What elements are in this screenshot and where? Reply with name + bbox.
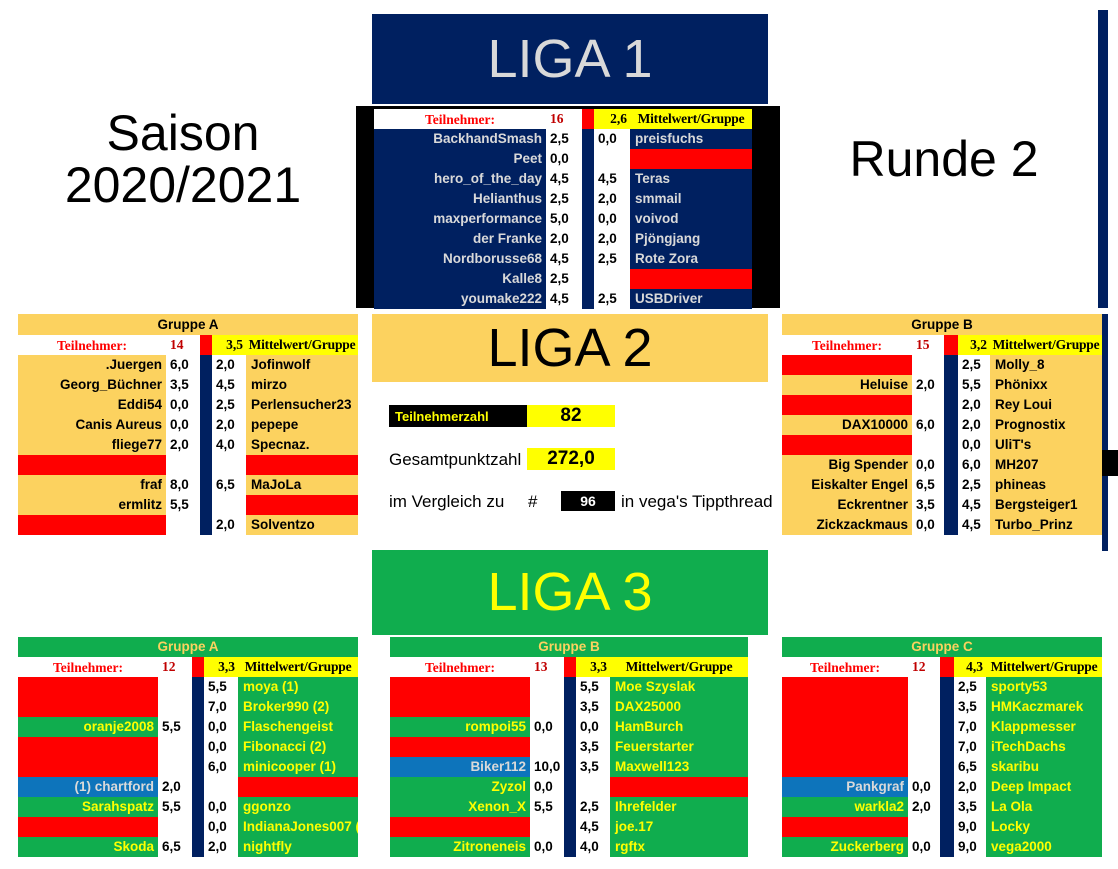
score-left: 2,5 <box>546 189 582 209</box>
header-red-spacer <box>200 335 212 355</box>
score-right: 6,5 <box>212 475 246 495</box>
player-name-left: oranje2008 <box>18 717 158 737</box>
score-left: 2,5 <box>546 129 582 149</box>
column-divider <box>944 355 958 375</box>
score-left: 6,5 <box>912 475 944 495</box>
score-right: 9,0 <box>954 837 986 857</box>
player-name-right: UliT's <box>990 435 1102 455</box>
score-right: 6,0 <box>204 757 238 777</box>
column-divider <box>944 455 958 475</box>
column-divider <box>200 395 212 415</box>
score-right: 3,5 <box>954 797 986 817</box>
header-red-spacer <box>192 657 204 677</box>
mittelwert-label: Mittelwert/Gruppe <box>990 335 1102 355</box>
score-right: 5,5 <box>576 677 610 697</box>
score-right: 7,0 <box>954 737 986 757</box>
player-name-right: nightfly <box>238 837 358 857</box>
player-name-left: fliege77 <box>18 435 166 455</box>
player-name-right: Turbo_Prinz <box>990 515 1102 535</box>
column-divider <box>200 495 212 515</box>
column-divider <box>940 797 954 817</box>
score-left: 0,0 <box>912 455 944 475</box>
mittelwert-value: 3,3 <box>204 657 238 677</box>
score-right: 0,0 <box>594 129 630 149</box>
column-divider <box>582 189 594 209</box>
table-row: Kalle82,5 <box>374 269 752 289</box>
empty-slot-left <box>782 817 908 837</box>
player-name-right: Phönixx <box>990 375 1102 395</box>
table-row: rompoi550,00,0HamBurch <box>390 717 748 737</box>
group-title-row: Gruppe A <box>18 314 358 335</box>
group-title-row: Gruppe C <box>782 637 1102 657</box>
table-row <box>18 455 358 475</box>
score-right: 2,0 <box>958 415 990 435</box>
player-name-left: maxperformance <box>374 209 546 229</box>
score-left <box>158 677 192 697</box>
player-name-left: Heluise <box>782 375 912 395</box>
table-row: Big Spender0,06,0MH207 <box>782 455 1102 475</box>
score-left <box>908 737 940 757</box>
score-right: 0,0 <box>204 737 238 757</box>
column-divider <box>940 777 954 797</box>
empty-slot-right <box>238 777 358 797</box>
table-row: 2,0Solventzo <box>18 515 358 535</box>
score-left: 0,0 <box>908 837 940 857</box>
score-right: 2,0 <box>204 837 238 857</box>
teilnehmerzahl-chip: Teilnehmerzahl <box>389 405 527 427</box>
liga1-table: Teilnehmer:162,6Mittelwert/GruppeBackhan… <box>374 109 752 307</box>
gesamtpunktzahl-value: 272,0 <box>527 448 615 470</box>
empty-slot-left <box>782 435 912 455</box>
liga3-gruppeB-table: Gruppe BTeilnehmer:133,3Mittelwert/Grupp… <box>390 637 748 859</box>
score-left: 6,0 <box>912 415 944 435</box>
table-row: Zitroneneis0,04,0rgftx <box>390 837 748 857</box>
table-row: 9,0Locky <box>782 817 1102 837</box>
mittelwert-value: 4,3 <box>954 657 986 677</box>
score-left: 5,0 <box>546 209 582 229</box>
column-divider <box>944 495 958 515</box>
player-name-right: moya (1) <box>238 677 358 697</box>
player-name-right: Specnaz. <box>246 435 358 455</box>
empty-slot-left <box>18 817 158 837</box>
score-left: 3,5 <box>912 495 944 515</box>
player-name-left: Xenon_X <box>390 797 530 817</box>
player-name-left: Georg_Büchner <box>18 375 166 395</box>
player-name-right: USBDriver <box>630 289 752 309</box>
score-left: 10,0 <box>530 757 564 777</box>
score-left <box>158 737 192 757</box>
empty-slot-left <box>18 677 158 697</box>
score-left: 4,5 <box>546 169 582 189</box>
liga1-title: LIGA 1 <box>372 14 768 104</box>
score-left <box>530 737 564 757</box>
mittelwert-label: Mittelwert/Gruppe <box>986 657 1102 677</box>
player-name-right: HamBurch <box>610 717 748 737</box>
group-title-row: Gruppe B <box>390 637 748 657</box>
table-row: Zickzackmaus0,04,5Turbo_Prinz <box>782 515 1102 535</box>
table-row: .Juergen6,02,0Jofinwolf <box>18 355 358 375</box>
score-left <box>166 515 200 535</box>
column-divider <box>940 737 954 757</box>
gesamtpunktzahl-label: Gesamtpunktzahl <box>389 450 521 470</box>
column-divider <box>200 455 212 475</box>
player-name-right: voivod <box>630 209 752 229</box>
player-name-left: Peet <box>374 149 546 169</box>
table-row: Sarahspatz5,50,0ggonzo <box>18 797 358 817</box>
score-left <box>158 697 192 717</box>
column-divider <box>564 797 576 817</box>
vergleich-suffix: in vega's Tippthread <box>621 492 773 512</box>
table-row: 2,5Molly_8 <box>782 355 1102 375</box>
column-divider <box>582 169 594 189</box>
mittelwert-label: Mittelwert/Gruppe <box>238 657 358 677</box>
score-left: 0,0 <box>908 777 940 797</box>
player-name-right: Solventzo <box>246 515 358 535</box>
season-label: Saison <box>107 107 260 160</box>
score-left: 0,0 <box>546 149 582 169</box>
group-table: Gruppe BTeilnehmer:153,2Mittelwert/Grupp… <box>782 314 1102 535</box>
player-name-left-highlight: (1) chartford <box>18 777 158 797</box>
player-name-right: Perlensucher23 <box>246 395 358 415</box>
player-name-right: smmail <box>630 189 752 209</box>
table-row: oranje20085,50,0Flaschengeist <box>18 717 358 737</box>
column-divider <box>192 817 204 837</box>
group-table: Gruppe CTeilnehmer:124,3Mittelwert/Grupp… <box>782 637 1102 857</box>
group-table: Gruppe ATeilnehmer:143,5Mittelwert/Grupp… <box>18 314 358 535</box>
group-header-row: Teilnehmer:133,3Mittelwert/Gruppe <box>390 657 748 677</box>
liga1-right-spacer <box>768 14 780 106</box>
score-left: 0,0 <box>912 515 944 535</box>
right-edge-black <box>1102 450 1118 476</box>
score-left: 3,5 <box>166 375 200 395</box>
teilnehmer-label: Teilnehmer: <box>374 109 546 129</box>
mittelwert-value: 3,2 <box>958 335 990 355</box>
player-name-right: Maxwell123 <box>610 757 748 777</box>
score-left: 0,0 <box>166 415 200 435</box>
group-title-row: Gruppe B <box>782 314 1102 335</box>
table-row: Eddi540,02,5Perlensucher23 <box>18 395 358 415</box>
group-title: Gruppe A <box>18 314 358 335</box>
player-name-right: Feuerstarter <box>610 737 748 757</box>
score-left <box>158 757 192 777</box>
column-divider <box>582 269 594 289</box>
score-left <box>908 817 940 837</box>
player-name-right: pepepe <box>246 415 358 435</box>
column-divider <box>564 677 576 697</box>
player-name-right: HMKaczmarek <box>986 697 1102 717</box>
score-right: 2,0 <box>212 415 246 435</box>
score-right: 5,5 <box>204 677 238 697</box>
score-left <box>166 455 200 475</box>
score-left <box>912 355 944 375</box>
player-name-left: hero_of_the_day <box>374 169 546 189</box>
score-right: 0,0 <box>594 209 630 229</box>
empty-slot-left <box>782 697 908 717</box>
score-left: 0,0 <box>530 717 564 737</box>
score-right: 4,5 <box>576 817 610 837</box>
table-row: Zyzol0,0 <box>390 777 748 797</box>
score-right <box>594 269 630 289</box>
table-row: ermlitz5,5 <box>18 495 358 515</box>
table-row: 7,0Klappmesser <box>782 717 1102 737</box>
table-row: (1) chartford2,0 <box>18 777 358 797</box>
player-name-left: Zuckerberg <box>782 837 908 857</box>
score-right: 0,0 <box>204 717 238 737</box>
player-name-left: warkla2 <box>782 797 908 817</box>
table-row: Xenon_X5,52,5Ihrefelder <box>390 797 748 817</box>
teilnehmer-count: 13 <box>530 657 564 677</box>
liga3-title: LIGA 3 <box>372 550 768 635</box>
score-right: 2,0 <box>594 189 630 209</box>
spreadsheet-page: Saison 2020/2021 LIGA 1 Runde 2 Teilnehm… <box>0 0 1118 869</box>
player-name-left: Eiskalter Engel <box>782 475 912 495</box>
score-right <box>594 149 630 169</box>
table-row: 2,0Rey Loui <box>782 395 1102 415</box>
score-right: 2,0 <box>594 229 630 249</box>
liga3-gruppeA-table: Gruppe ATeilnehmer:123,3Mittelwert/Grupp… <box>18 637 358 859</box>
column-divider <box>944 395 958 415</box>
score-right: 4,0 <box>576 837 610 857</box>
column-divider <box>192 797 204 817</box>
player-name-left: Eckrentner <box>782 495 912 515</box>
table-row: Heluise2,05,5Phönixx <box>782 375 1102 395</box>
teilnehmerzahl-label: Teilnehmerzahl <box>395 409 489 424</box>
player-name-right: MaJoLa <box>246 475 358 495</box>
group-title: Gruppe B <box>782 314 1102 335</box>
player-name-left-highlight: Pankgraf <box>782 777 908 797</box>
score-left: 0,0 <box>530 837 564 857</box>
mittelwert-label: Mittelwert/Gruppe <box>610 657 748 677</box>
score-right: 4,5 <box>594 169 630 189</box>
player-name-left: Zickzackmaus <box>782 515 912 535</box>
group-title: Gruppe A <box>18 637 358 657</box>
player-name-left: Zyzol <box>390 777 530 797</box>
group-header-row: Teilnehmer:143,5Mittelwert/Gruppe <box>18 335 358 355</box>
player-name-left: Eddi54 <box>18 395 166 415</box>
table-row: 7,0iTechDachs <box>782 737 1102 757</box>
column-divider <box>564 777 576 797</box>
score-left: 2,0 <box>912 375 944 395</box>
score-right <box>212 455 246 475</box>
empty-slot-right <box>246 495 358 515</box>
player-name-left: DAX10000 <box>782 415 912 435</box>
score-left: 6,0 <box>166 355 200 375</box>
score-right: 4,0 <box>212 435 246 455</box>
score-right: 2,5 <box>958 355 990 375</box>
player-name-right: joe.17 <box>610 817 748 837</box>
teilnehmer-count: 12 <box>158 657 192 677</box>
column-divider <box>192 837 204 857</box>
table-row: Skoda6,52,0nightfly <box>18 837 358 857</box>
score-right: 2,5 <box>594 289 630 309</box>
player-name-left: Nordborusse68 <box>374 249 546 269</box>
column-divider <box>944 475 958 495</box>
score-left <box>158 817 192 837</box>
score-right: 7,0 <box>204 697 238 717</box>
score-right: 2,5 <box>954 677 986 697</box>
column-divider <box>582 129 594 149</box>
column-divider <box>940 717 954 737</box>
score-left: 4,5 <box>546 249 582 269</box>
empty-slot-left <box>782 737 908 757</box>
player-name-left: BackhandSmash <box>374 129 546 149</box>
group-header-row: Teilnehmer:153,2Mittelwert/Gruppe <box>782 335 1102 355</box>
score-right: 7,0 <box>954 717 986 737</box>
score-left: 5,5 <box>166 495 200 515</box>
group-header-row: Teilnehmer:124,3Mittelwert/Gruppe <box>782 657 1102 677</box>
score-right: 3,5 <box>576 737 610 757</box>
table-row: warkla22,03,5La Ola <box>782 797 1102 817</box>
table-row: Helianthus2,52,0smmail <box>374 189 752 209</box>
score-left: 2,0 <box>166 435 200 455</box>
score-right: 6,0 <box>958 455 990 475</box>
score-right: 2,5 <box>212 395 246 415</box>
player-name-right: Klappmesser <box>986 717 1102 737</box>
table-row: DAX100006,02,0Prognostix <box>782 415 1102 435</box>
player-name-right: Broker990 (2) <box>238 697 358 717</box>
player-name-right: Prognostix <box>990 415 1102 435</box>
score-left: 5,5 <box>158 717 192 737</box>
column-divider <box>192 717 204 737</box>
empty-slot-left <box>18 757 158 777</box>
column-divider <box>564 737 576 757</box>
score-right: 0,0 <box>958 435 990 455</box>
empty-slot-left <box>390 737 530 757</box>
teilnehmer-label: Teilnehmer: <box>18 657 158 677</box>
score-right: 2,0 <box>212 515 246 535</box>
score-left: 2,0 <box>158 777 192 797</box>
liga2-gruppeB-table: Gruppe BTeilnehmer:153,2Mittelwert/Grupp… <box>782 314 1102 551</box>
player-name-left: Canis Aureus <box>18 415 166 435</box>
empty-slot-right <box>630 269 752 289</box>
score-right: 0,0 <box>204 817 238 837</box>
table-row: 0,0UliT's <box>782 435 1102 455</box>
table-row: Eckrentner3,54,5Bergsteiger1 <box>782 495 1102 515</box>
player-name-right: Bergsteiger1 <box>990 495 1102 515</box>
empty-slot-left <box>390 817 530 837</box>
column-divider <box>200 515 212 535</box>
mittelwert-value: 3,3 <box>576 657 610 677</box>
player-name-right: ggonzo <box>238 797 358 817</box>
score-left: 5,5 <box>158 797 192 817</box>
score-left <box>908 697 940 717</box>
table-row: fliege772,04,0Specnaz. <box>18 435 358 455</box>
empty-slot-left <box>18 455 166 475</box>
liga2-title: LIGA 2 <box>372 314 768 382</box>
table-row: der Franke2,02,0Pjöngjang <box>374 229 752 249</box>
score-left: 0,0 <box>166 395 200 415</box>
column-divider <box>200 355 212 375</box>
column-divider <box>192 777 204 797</box>
score-right: 2,5 <box>958 475 990 495</box>
player-name-right: rgftx <box>610 837 748 857</box>
teilnehmer-count: 16 <box>546 109 582 129</box>
score-right: 2,0 <box>958 395 990 415</box>
header-red-spacer <box>940 657 954 677</box>
teilnehmer-count: 14 <box>166 335 200 355</box>
empty-slot-left <box>18 697 158 717</box>
score-right: 5,5 <box>958 375 990 395</box>
column-divider <box>944 375 958 395</box>
table-row: 0,0IndianaJones007 (2) <box>18 817 358 837</box>
column-divider <box>940 697 954 717</box>
table-row: Biker11210,03,5Maxwell123 <box>390 757 748 777</box>
teilnehmerzahl-value: 82 <box>527 405 615 427</box>
score-left: 2,0 <box>546 229 582 249</box>
score-right: 9,0 <box>954 817 986 837</box>
teilnehmer-label: Teilnehmer: <box>782 657 908 677</box>
column-divider <box>944 515 958 535</box>
empty-slot-left <box>390 677 530 697</box>
player-name-right: Jofinwolf <box>246 355 358 375</box>
column-divider <box>944 415 958 435</box>
player-name-left: ermlitz <box>18 495 166 515</box>
vergleich-value: 96 <box>561 491 615 511</box>
empty-slot-right <box>630 149 752 169</box>
empty-slot-right <box>246 455 358 475</box>
vergleich-hash: # <box>528 492 537 512</box>
table-row: Nordborusse684,52,5Rote Zora <box>374 249 752 269</box>
table-row: 2,5sporty53 <box>782 677 1102 697</box>
column-divider <box>564 757 576 777</box>
round-label: Runde 2 <box>849 133 1038 186</box>
table-row: 7,0Broker990 (2) <box>18 697 358 717</box>
empty-slot-left <box>782 757 908 777</box>
player-name-right: Teras <box>630 169 752 189</box>
score-left: 2,0 <box>908 797 940 817</box>
empty-slot-left <box>18 515 166 535</box>
table-row: BackhandSmash2,50,0preisfuchs <box>374 129 752 149</box>
table-row: youmake2224,52,5USBDriver <box>374 289 752 309</box>
table-row: 6,5skaribu <box>782 757 1102 777</box>
round-panel: Runde 2 <box>780 10 1108 308</box>
column-divider <box>200 435 212 455</box>
player-name-left: Skoda <box>18 837 158 857</box>
group-table: Gruppe BTeilnehmer:133,3Mittelwert/Grupp… <box>390 637 748 857</box>
round-left-bar <box>760 106 780 308</box>
vergleich-label: im Vergleich zu <box>389 492 504 512</box>
column-divider <box>192 697 204 717</box>
column-divider <box>192 757 204 777</box>
score-left <box>530 677 564 697</box>
table-row: Eiskalter Engel6,52,5phineas <box>782 475 1102 495</box>
player-name-left-highlight: Biker112 <box>390 757 530 777</box>
player-name-right: La Ola <box>986 797 1102 817</box>
score-left: 4,5 <box>546 289 582 309</box>
player-name-left: Kalle8 <box>374 269 546 289</box>
score-right: 2,0 <box>954 777 986 797</box>
column-divider <box>564 697 576 717</box>
empty-slot-left <box>782 355 912 375</box>
group-header-row: Teilnehmer:162,6Mittelwert/Gruppe <box>374 109 752 129</box>
table-row: 3,5DAX25000 <box>390 697 748 717</box>
group-header-row: Teilnehmer:123,3Mittelwert/Gruppe <box>18 657 358 677</box>
player-name-right: Flaschengeist <box>238 717 358 737</box>
player-name-left: Zitroneneis <box>390 837 530 857</box>
score-right: 2,5 <box>576 797 610 817</box>
mittelwert-label: Mittelwert/Gruppe <box>246 335 358 355</box>
player-name-right: phineas <box>990 475 1102 495</box>
score-left: 2,5 <box>546 269 582 289</box>
liga3-gruppeC-table: Gruppe CTeilnehmer:124,3Mittelwert/Grupp… <box>782 637 1102 859</box>
player-name-right: Moe Szyslak <box>610 677 748 697</box>
column-divider <box>564 817 576 837</box>
score-left <box>530 817 564 837</box>
player-name-right: Molly_8 <box>990 355 1102 375</box>
teilnehmer-label: Teilnehmer: <box>18 335 166 355</box>
score-right: 2,5 <box>594 249 630 269</box>
column-divider <box>200 375 212 395</box>
